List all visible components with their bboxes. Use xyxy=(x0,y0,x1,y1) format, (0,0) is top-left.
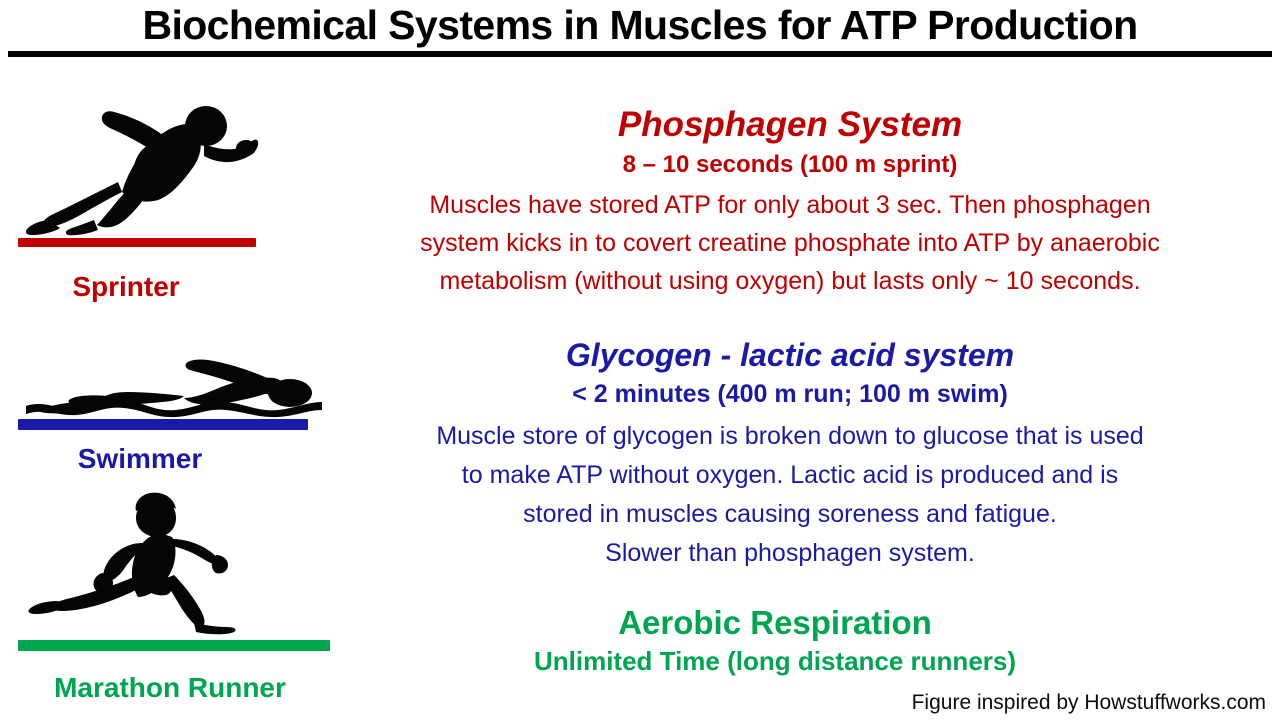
sprinter-label: Sprinter xyxy=(0,271,252,303)
glycogen-description-line-3: stored in muscles causing soreness and f… xyxy=(300,495,1280,534)
phosphagen-description: Muscles have stored ATP for only about 3… xyxy=(300,186,1280,300)
marathon-road-bar xyxy=(18,640,330,651)
glycogen-duration: < 2 minutes (400 m run; 100 m swim) xyxy=(300,377,1280,411)
aerobic-duration: Unlimited Time (long distance runners) xyxy=(300,644,1250,678)
phosphagen-heading: Phosphagen System xyxy=(300,104,1280,146)
glycogen-description-line-1: Muscle store of glycogen is broken down … xyxy=(300,417,1280,456)
swimmer-figure xyxy=(18,340,328,418)
sprinter-figure xyxy=(18,96,268,236)
marathon-runner-figure xyxy=(18,485,330,637)
swimmer-label: Swimmer xyxy=(0,443,280,475)
marathon-runner-label: Marathon Runner xyxy=(0,672,340,704)
aerobic-respiration-section: Aerobic Respiration Unlimited Time (long… xyxy=(300,603,1250,678)
phosphagen-description-line-1: Muscles have stored ATP for only about 3… xyxy=(300,186,1280,224)
phosphagen-description-line-3: metabolism (without using oxygen) but la… xyxy=(300,262,1280,300)
sprinter-silhouette-icon xyxy=(18,96,268,236)
swimmer-lane-bar xyxy=(18,419,308,430)
glycogen-heading: Glycogen - lactic acid system xyxy=(300,335,1280,375)
glycogen-lactic-acid-system-section: Glycogen - lactic acid system < 2 minute… xyxy=(300,335,1280,573)
sprinter-track-bar xyxy=(18,238,256,247)
page-title: Biochemical Systems in Muscles for ATP P… xyxy=(0,2,1280,48)
glycogen-description-line-2: to make ATP without oxygen. Lactic acid … xyxy=(300,456,1280,495)
glycogen-description-line-4: Slower than phosphagen system. xyxy=(300,534,1280,573)
aerobic-heading: Aerobic Respiration xyxy=(300,603,1250,643)
phosphagen-description-line-2: system kicks in to covert creatine phosp… xyxy=(300,224,1280,262)
marathon-runner-silhouette-icon xyxy=(18,485,330,637)
title-underline-rule xyxy=(8,51,1272,57)
phosphagen-system-section: Phosphagen System 8 – 10 seconds (100 m … xyxy=(300,104,1280,300)
glycogen-description: Muscle store of glycogen is broken down … xyxy=(300,417,1280,573)
swimmer-silhouette-icon xyxy=(18,340,328,418)
phosphagen-duration: 8 – 10 seconds (100 m sprint) xyxy=(300,148,1280,182)
figure-credit: Figure inspired by Howstuffworks.com xyxy=(912,690,1266,716)
